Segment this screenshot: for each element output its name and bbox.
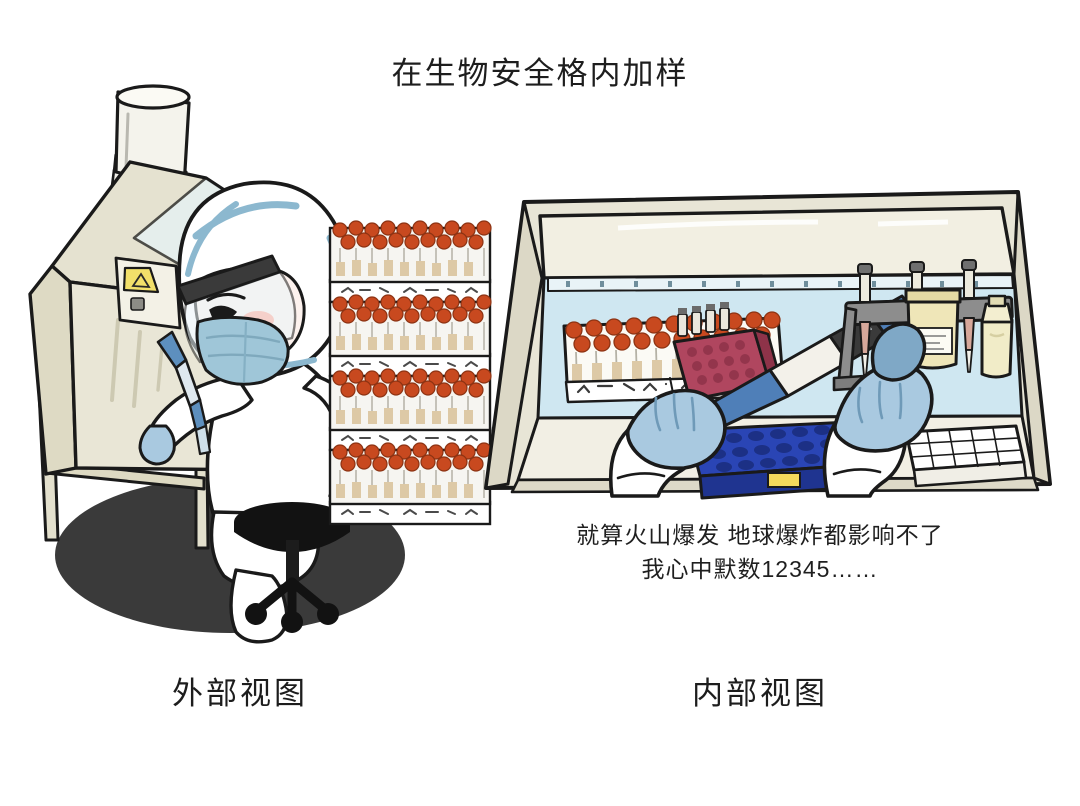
external-view-panel — [0, 70, 500, 660]
caption-line-1: 就算火山爆发 地球爆炸都影响不了 — [520, 518, 1000, 552]
internal-view-label: 内部视图 — [665, 668, 855, 713]
n95-mask — [197, 317, 288, 384]
internal-view-panel — [478, 178, 1058, 508]
tip-box-grid — [906, 426, 1026, 486]
plate-label-sticker — [768, 473, 800, 487]
reagent-bottle — [982, 296, 1012, 377]
sample-tube-trays — [330, 221, 491, 524]
caption-block: 就算火山爆发 地球爆炸都影响不了 我心中默数12345…… — [520, 518, 1000, 586]
illustration-canvas: 在生物安全格内加样 — [0, 0, 1080, 806]
external-view-label: 外部视图 — [150, 668, 330, 713]
caption-line-2: 我心中默数12345…… — [520, 552, 1000, 586]
